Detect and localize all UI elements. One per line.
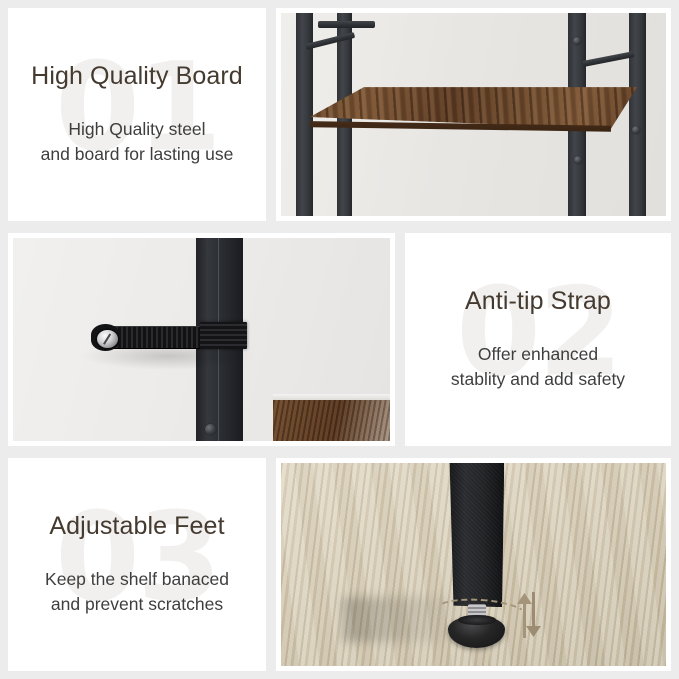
feature-row-1: 01 High Quality Board High Quality steel… bbox=[8, 8, 671, 221]
strap-photo-scene bbox=[13, 238, 390, 441]
frame-post-right bbox=[629, 13, 645, 216]
feature-description-3-line2: and prevent scratches bbox=[45, 592, 229, 617]
feature-description-2: Offer enhanced stablity and add safety bbox=[451, 342, 625, 392]
infographic-board: 01 High Quality Board High Quality steel… bbox=[0, 0, 679, 679]
feature-description-1-line1: High Quality steel bbox=[41, 117, 234, 142]
floor-wood-corner bbox=[273, 400, 390, 441]
strap-wrap-around-post bbox=[200, 322, 247, 348]
feature-photo-2 bbox=[8, 233, 395, 446]
feature-description-2-line2: stablity and add safety bbox=[451, 367, 625, 392]
adjustable-foot-photo-scene bbox=[281, 463, 666, 666]
feature-title-2: Anti-tip Strap bbox=[465, 287, 611, 316]
feature-title-1: High Quality Board bbox=[31, 62, 243, 91]
feature-description-1-line2: and board for lasting use bbox=[41, 142, 234, 167]
wall-baseboard bbox=[273, 394, 390, 401]
feature-description-2-line1: Offer enhanced bbox=[451, 342, 625, 367]
feature-text-panel-2: 02 Anti-tip Strap Offer enhanced stablit… bbox=[405, 233, 671, 446]
feature-description-3: Keep the shelf banaced and prevent scrat… bbox=[45, 567, 229, 617]
up-down-arrow-icon bbox=[514, 592, 544, 638]
screw-icon-post-bottom bbox=[205, 424, 216, 435]
feature-description-3-line1: Keep the shelf banaced bbox=[45, 567, 229, 592]
feature-text-panel-1: 01 High Quality Board High Quality steel… bbox=[8, 8, 266, 221]
frame-rail-top-left bbox=[318, 21, 376, 28]
strap-wall-screw-icon bbox=[97, 330, 118, 348]
feature-title-3: Adjustable Feet bbox=[49, 512, 224, 541]
feature-text-panel-3: 03 Adjustable Feet Keep the shelf banace… bbox=[8, 458, 266, 671]
leg-texture bbox=[448, 463, 504, 607]
screw-icon-far-right bbox=[632, 126, 640, 134]
feature-description-1: High Quality steel and board for lasting… bbox=[41, 117, 234, 167]
shelf-photo-scene bbox=[281, 13, 666, 216]
shelf-leg bbox=[448, 463, 504, 607]
feature-row-2: 02 Anti-tip Strap Offer enhanced stablit… bbox=[8, 233, 671, 446]
feature-photo-3 bbox=[276, 458, 671, 671]
feature-photo-1 bbox=[276, 8, 671, 221]
feature-row-3: 03 Adjustable Feet Keep the shelf banace… bbox=[8, 458, 671, 671]
